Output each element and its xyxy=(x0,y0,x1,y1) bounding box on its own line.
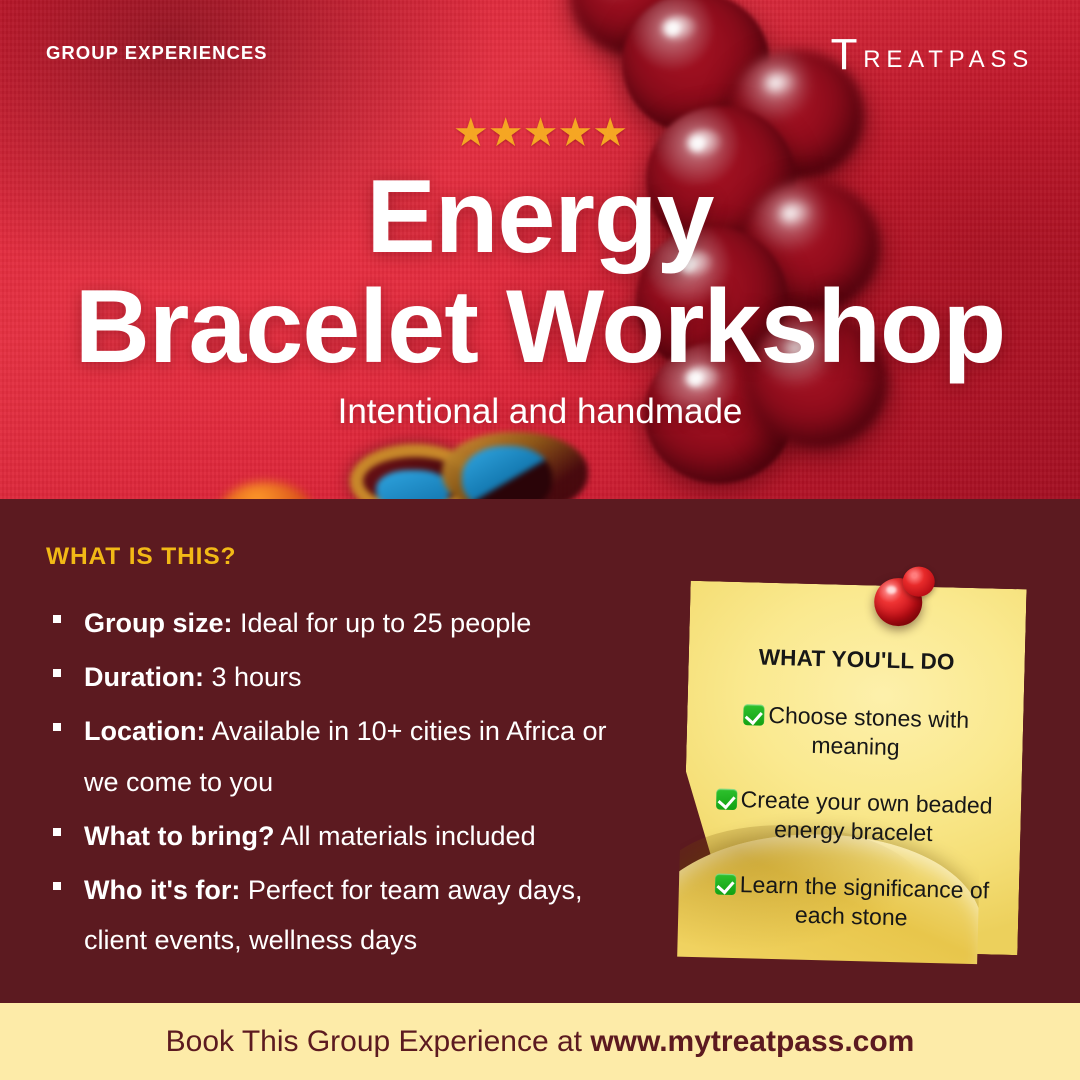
fact-label: Location: xyxy=(84,716,206,746)
fact-value: 3 hours xyxy=(212,662,302,692)
footer-cta-prefix: Book This Group Experience at xyxy=(166,1025,591,1058)
list-item: Who it's for: Perfect for team away days… xyxy=(46,865,646,965)
check-mark-icon xyxy=(715,789,737,811)
list-item: What to bring? All materials included xyxy=(46,811,646,861)
list-item: Duration: 3 hours xyxy=(46,652,646,702)
eyebrow-label: GROUP EXPERIENCES xyxy=(46,42,268,64)
bullet-square-icon xyxy=(53,828,61,836)
list-item: Create your own beaded energy bracelet xyxy=(698,784,1009,849)
turquoise-stone xyxy=(376,470,450,499)
page-title-line-2: Bracelet Workshop xyxy=(0,272,1080,382)
list-item-label: Create your own beaded energy bracelet xyxy=(740,786,992,845)
list-item-label: Learn the significance of each stone xyxy=(740,871,990,930)
section-heading: WHAT IS THIS? xyxy=(46,543,236,571)
facts-list: Group size: Ideal for up to 25 people Du… xyxy=(46,598,646,970)
bullet-square-icon xyxy=(53,615,61,623)
sticky-note-list: Choose stones with meaning Create your o… xyxy=(695,699,1011,962)
footer-cta-text: Book This Group Experience at www.mytrea… xyxy=(166,1025,915,1059)
brand-logo-initial: T xyxy=(831,30,864,79)
page-title-line-1: Energy xyxy=(0,162,1080,272)
check-mark-icon xyxy=(743,704,765,726)
hero-banner: GROUP EXPERIENCES Treatpass ★★★★★ Energy… xyxy=(0,0,1080,499)
fact-label: Duration: xyxy=(84,662,204,692)
list-item: Group size: Ideal for up to 25 people xyxy=(46,598,646,648)
star-rating: ★★★★★ xyxy=(0,113,1080,153)
list-item: Learn the significance of each stone xyxy=(696,869,1007,934)
bracelet-charm-decoration xyxy=(350,430,600,499)
footer-website-url[interactable]: www.mytreatpass.com xyxy=(590,1025,914,1058)
list-item-label: Choose stones with meaning xyxy=(768,702,969,760)
page-subtitle: Intentional and handmade xyxy=(0,392,1080,432)
fact-label: Who it's for: xyxy=(84,875,240,905)
check-mark-icon xyxy=(715,874,737,896)
brand-logo: Treatpass xyxy=(831,33,1034,77)
brand-logo-text: reatpass xyxy=(863,37,1034,75)
footer-cta-bar: Book This Group Experience at www.mytrea… xyxy=(0,1003,1080,1080)
list-item: Choose stones with meaning xyxy=(700,699,1011,764)
fact-value: Ideal for up to 25 people xyxy=(240,608,531,638)
fact-label: What to bring? xyxy=(84,821,274,851)
sticky-note: WHAT YOU'LL DO Choose stones with meanin… xyxy=(681,581,1026,955)
turquoise-stone xyxy=(462,446,552,499)
bullet-square-icon xyxy=(53,723,61,731)
page-title: Energy Bracelet Workshop xyxy=(0,162,1080,382)
pushpin-icon xyxy=(867,563,943,653)
list-item: Location: Available in 10+ cities in Afr… xyxy=(46,706,646,806)
bullet-square-icon xyxy=(53,669,61,677)
fact-label: Group size: xyxy=(84,608,233,638)
bullet-square-icon xyxy=(53,882,61,890)
fact-value: All materials included xyxy=(280,821,535,851)
